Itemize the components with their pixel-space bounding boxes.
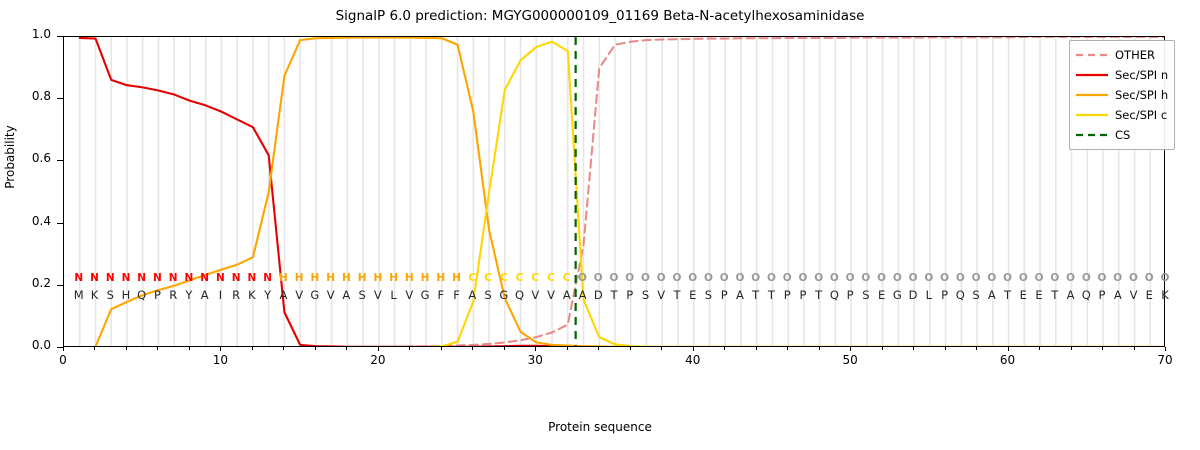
sequence-region-marker: H [275,272,291,284]
sequence-residue: E [1141,288,1157,302]
x-tick-minor [126,347,127,350]
sequence-region-marker: O [1078,272,1094,284]
sequence-region-marker: O [685,272,701,284]
x-tick-major [1165,347,1166,351]
x-tick-major [693,347,694,351]
sequence-residue: S [354,288,370,302]
sequence-region-marker: N [260,272,276,284]
legend-item[interactable]: OTHER [1075,45,1168,65]
legend: OTHERSec/SPI nSec/SPI hSec/SPI cCS [1069,40,1175,150]
sequence-residue: R [228,288,244,302]
sequence-residue: S [102,288,118,302]
sequence-residue: K [244,288,260,302]
x-tick-minor [189,347,190,350]
sequence-residue: S [637,288,653,302]
sequence-region-marker: O [622,272,638,284]
sequence-residue: Q [1078,288,1094,302]
x-tick-major [850,347,851,351]
sequence-region-marker: O [952,272,968,284]
sequence-residue: G [307,288,323,302]
sequence-residue: S [968,288,984,302]
sequence-region-marker: O [1047,272,1063,284]
sequence-region-marker: O [1094,272,1110,284]
x-tick-minor [1039,347,1040,350]
sequence-region-marker: H [449,272,465,284]
sequence-residue: A [984,288,1000,302]
sequence-region-marker: O [653,272,669,284]
sequence-residue: G [496,288,512,302]
x-tick-minor [756,347,757,350]
sequence-region-marker: O [716,272,732,284]
y-tick-label: 0.2 [5,276,51,290]
signalp-prediction-figure: SignalP 6.0 prediction: MGYG000000109_01… [0,0,1200,450]
x-tick-minor [567,347,568,350]
sequence-region-marker: N [165,272,181,284]
x-tick-label: 0 [43,353,83,367]
legend-item[interactable]: CS [1075,125,1168,145]
sequence-region-marker: O [921,272,937,284]
sequence-residue: A [338,288,354,302]
y-tick-label: 1.0 [5,27,51,41]
sequence-residue: P [622,288,638,302]
legend-item[interactable]: Sec/SPI h [1075,85,1168,105]
sequence-residue: A [559,288,575,302]
sequence-residue: T [763,288,779,302]
sequence-region-marker: C [543,272,559,284]
sequence-region-marker: O [1157,272,1173,284]
sequence-residue: V [323,288,339,302]
sequence-residue: Q [512,288,528,302]
sequence-region-marker: O [606,272,622,284]
x-tick-major [63,347,64,351]
sequence-region-marker: O [937,272,953,284]
sequence-residue: V [527,288,543,302]
sequence-residue: K [86,288,102,302]
sequence-residue: V [291,288,307,302]
y-tick-label: 0.8 [5,89,51,103]
x-tick-label: 60 [988,353,1028,367]
sequence-region-marker: H [386,272,402,284]
legend-item-label: Sec/SPI c [1115,108,1167,122]
sequence-region-marker: C [496,272,512,284]
x-tick-minor [630,347,631,350]
sequence-region-marker: H [417,272,433,284]
sequence-region-marker: O [905,272,921,284]
sequence-region-marker: O [1015,272,1031,284]
x-tick-major [220,347,221,351]
x-tick-minor [441,347,442,350]
sequence-region-marker: H [370,272,386,284]
x-tick-minor [882,347,883,350]
x-tick-minor [913,347,914,350]
sequence-region-marker: O [968,272,984,284]
sequence-residue: E [874,288,890,302]
sequence-residue: T [811,288,827,302]
sequence-region-marker: O [1063,272,1079,284]
x-tick-label: 10 [200,353,240,367]
sequence-region-marker: C [559,272,575,284]
legend-item[interactable]: Sec/SPI n [1075,65,1168,85]
sequence-region-marker: O [575,272,591,284]
sequence-residue: G [889,288,905,302]
sequence-residue: A [732,288,748,302]
x-tick-minor [724,347,725,350]
sequence-residue: R [165,288,181,302]
legend-item[interactable]: Sec/SPI c [1075,105,1168,125]
sequence-region-marker: N [149,272,165,284]
sequence-region-marker: O [984,272,1000,284]
legend-color-swatch [1075,109,1109,121]
sequence-region-marker: O [779,272,795,284]
sequence-region-marker: N [212,272,228,284]
x-axis-label: Protein sequence [0,420,1200,434]
sequence-region-marker: O [590,272,606,284]
sequence-region-marker: O [732,272,748,284]
x-tick-label: 20 [358,353,398,367]
sequence-region-marker: O [1000,272,1016,284]
sequence-residue: D [905,288,921,302]
x-tick-minor [94,347,95,350]
sequence-region-marker: H [291,272,307,284]
sequence-region-marker: N [197,272,213,284]
sequence-region-marker: O [1031,272,1047,284]
sequence-region-marker: C [464,272,480,284]
sequence-region-marker: C [480,272,496,284]
sequence-region-marker: C [527,272,543,284]
sequence-region-marker: N [228,272,244,284]
sequence-region-marker: N [244,272,260,284]
x-tick-minor [346,347,347,350]
sequence-residue: T [748,288,764,302]
sequence-residue: A [197,288,213,302]
y-tick-label: 0.6 [5,151,51,165]
sequence-region-marker: O [700,272,716,284]
x-tick-minor [283,347,284,350]
sequence-residue: V [543,288,559,302]
x-tick-minor [252,347,253,350]
sequence-residue: V [370,288,386,302]
sequence-residue: S [480,288,496,302]
sequence-region-marker: O [669,272,685,284]
sequence-residue: V [401,288,417,302]
sequence-residue: Y [260,288,276,302]
x-tick-minor [787,347,788,350]
x-tick-minor [945,347,946,350]
sequence-residue: T [1047,288,1063,302]
sequence-residue: T [606,288,622,302]
legend-color-swatch [1075,49,1109,61]
x-tick-label: 30 [515,353,555,367]
sequence-residue: V [1126,288,1142,302]
x-tick-minor [598,347,599,350]
sequence-region-marker: N [86,272,102,284]
sequence-residue: F [433,288,449,302]
sequence-region-marker: O [1126,272,1142,284]
sequence-residue: K [1157,288,1173,302]
sequence-residue: P [716,288,732,302]
y-tick-label: 0.0 [5,338,51,352]
x-tick-label: 70 [1145,353,1185,367]
sequence-region-marker: O [763,272,779,284]
sequence-residue: L [921,288,937,302]
x-tick-minor [1102,347,1103,350]
sequence-residue: Q [826,288,842,302]
x-tick-minor [661,347,662,350]
sequence-residue: P [937,288,953,302]
sequence-residue: A [1063,288,1079,302]
sequence-region-marker: N [71,272,87,284]
sequence-residue: P [842,288,858,302]
sequence-region-marker: H [354,272,370,284]
sequence-region-marker: N [118,272,134,284]
x-tick-minor [472,347,473,350]
sequence-region-marker: O [748,272,764,284]
sequence-region-marker: O [889,272,905,284]
sequence-region-marker: O [1110,272,1126,284]
sequence-region-marker: H [338,272,354,284]
sequence-residue: P [149,288,165,302]
sequence-residue: G [417,288,433,302]
sequence-residue: P [795,288,811,302]
sequence-region-marker: O [842,272,858,284]
sequence-region-marker: N [102,272,118,284]
sequence-region-marker: H [401,272,417,284]
legend-color-swatch [1075,89,1109,101]
x-tick-minor [1071,347,1072,350]
sequence-region-marker: C [512,272,528,284]
x-tick-major [535,347,536,351]
x-tick-minor [976,347,977,350]
x-tick-minor [1134,347,1135,350]
sequence-track: NMNKNSNHNQNPNRNYNANINRNKNYHAHVHGHVHAHSHV… [63,0,1165,311]
sequence-residue: P [779,288,795,302]
sequence-region-marker: N [134,272,150,284]
legend-color-swatch [1075,129,1109,141]
sequence-residue: H [118,288,134,302]
x-tick-minor [819,347,820,350]
sequence-residue: E [685,288,701,302]
sequence-residue: A [464,288,480,302]
sequence-region-marker: H [307,272,323,284]
sequence-residue: F [449,288,465,302]
legend-item-label: OTHER [1115,48,1155,62]
sequence-residue: E [1015,288,1031,302]
x-tick-minor [504,347,505,350]
x-tick-major [1008,347,1009,351]
sequence-region-marker: H [433,272,449,284]
sequence-region-marker: O [795,272,811,284]
sequence-residue: L [386,288,402,302]
sequence-region-marker: O [637,272,653,284]
sequence-residue: P [1094,288,1110,302]
sequence-residue: A [575,288,591,302]
x-tick-minor [315,347,316,350]
sequence-residue: I [212,288,228,302]
sequence-region-marker: O [874,272,890,284]
legend-color-swatch [1075,69,1109,81]
sequence-residue: E [1031,288,1047,302]
x-tick-label: 50 [830,353,870,367]
sequence-region-marker: O [1141,272,1157,284]
x-tick-label: 40 [673,353,713,367]
x-tick-minor [157,347,158,350]
sequence-residue: S [858,288,874,302]
sequence-region-marker: H [323,272,339,284]
y-tick-label: 0.4 [5,214,51,228]
sequence-region-marker: O [811,272,827,284]
legend-item-label: Sec/SPI h [1115,88,1168,102]
sequence-residue: Y [181,288,197,302]
x-axis-ticks: 010203040506070 [63,347,1165,387]
sequence-residue: T [1000,288,1016,302]
sequence-residue: Q [952,288,968,302]
sequence-residue: M [71,288,87,302]
legend-item-label: CS [1115,128,1130,142]
sequence-residue: A [1110,288,1126,302]
sequence-residue: T [669,288,685,302]
x-tick-major [378,347,379,351]
legend-item-label: Sec/SPI n [1115,68,1168,82]
x-tick-minor [409,347,410,350]
sequence-residue: A [275,288,291,302]
sequence-region-marker: O [858,272,874,284]
sequence-residue: D [590,288,606,302]
sequence-residue: V [653,288,669,302]
sequence-region-marker: N [181,272,197,284]
sequence-residue: Q [134,288,150,302]
sequence-region-marker: O [826,272,842,284]
sequence-residue: S [700,288,716,302]
